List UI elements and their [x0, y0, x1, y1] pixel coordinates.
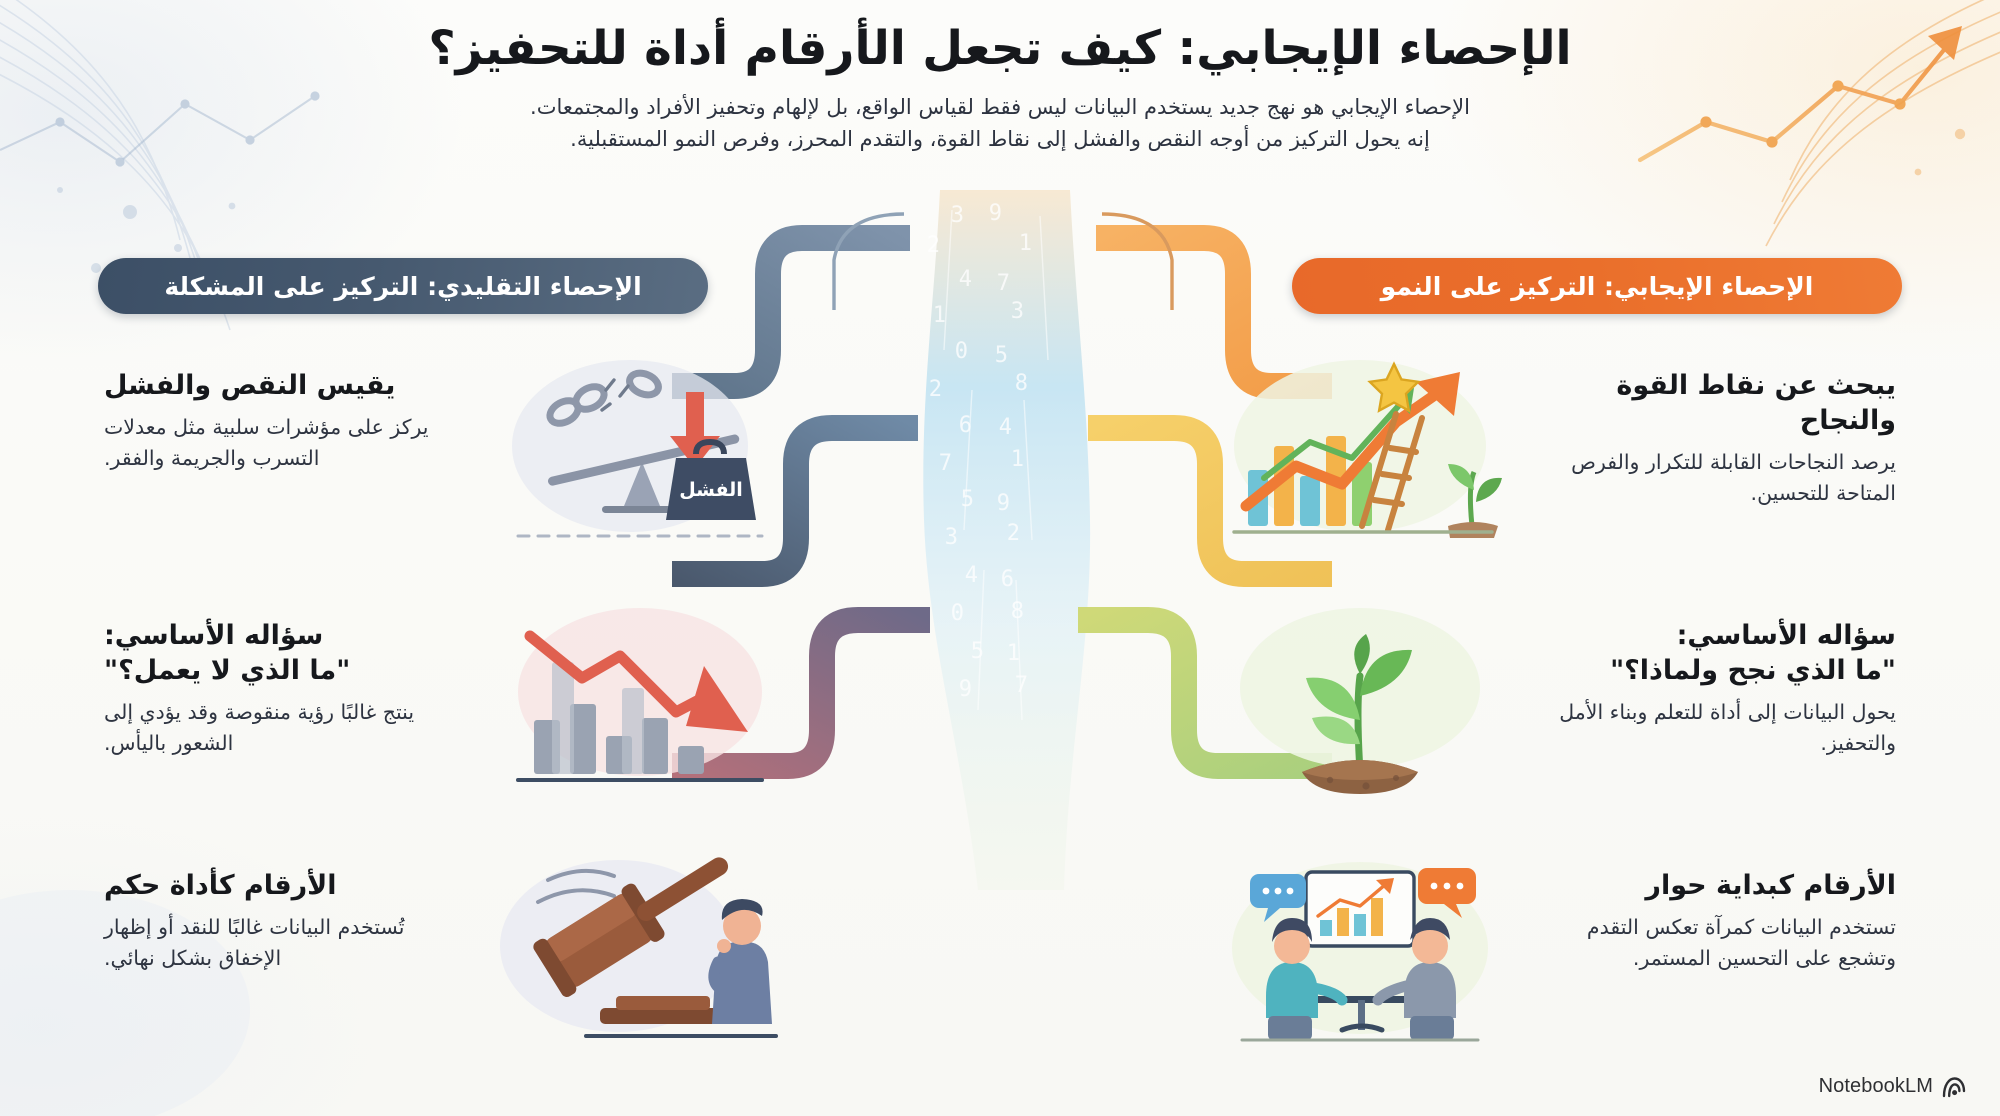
svg-text:1: 1	[1007, 641, 1020, 666]
row-left-1-text: يقيس النقص والفشل يركز على مؤشرات سلبية …	[90, 350, 490, 474]
svg-text:5: 5	[995, 343, 1008, 368]
broken-chain-scale-icon: الفشل	[490, 350, 790, 550]
row-left-2-title-line1: سؤاله الأساسي:	[104, 620, 323, 651]
notebooklm-watermark: NotebookLM	[1819, 1075, 1966, 1098]
svg-text:2: 2	[929, 377, 942, 402]
row-right-1-desc: يرصد النجاحات القابلة للتكرار والفرص الم…	[1532, 447, 1896, 509]
gavel-judgement-icon	[490, 850, 790, 1050]
row-right-2-text: سؤاله الأساسي: "ما الذي نجح ولماذا؟" يحو…	[1510, 600, 1910, 760]
svg-text:2: 2	[927, 233, 940, 258]
row-left-3: الأرقام كأداة حكم تُستخدم البيانات غالبً…	[90, 850, 790, 1062]
row-left-1-desc: يركز على مؤشرات سلبية مثل معدلات التسرب …	[104, 412, 468, 474]
svg-text:9: 9	[959, 677, 972, 702]
column-traditional: الفشل يقيس النقص والفشل يركز على مؤشرات …	[90, 350, 790, 1100]
row-right-3-title: الأرقام كبداية حوار	[1532, 868, 1896, 903]
row-left-1-title: يقيس النقص والفشل	[104, 368, 468, 403]
row-right-2-title: سؤاله الأساسي: "ما الذي نجح ولماذا؟"	[1532, 618, 1896, 688]
svg-text:7: 7	[939, 451, 952, 476]
svg-text:6: 6	[1001, 567, 1014, 592]
row-left-3-text: الأرقام كأداة حكم تُستخدم البيانات غالبً…	[90, 850, 490, 974]
row-right-2: سؤاله الأساسي: "ما الذي نجح ولماذا؟" يحو…	[1210, 600, 1910, 812]
growing-plant-icon	[1210, 600, 1510, 800]
svg-text:1: 1	[1011, 447, 1024, 472]
row-right-2-title-line2: "ما الذي نجح ولماذا؟"	[1532, 653, 1896, 688]
svg-text:0: 0	[951, 601, 964, 626]
row-right-1-title: يبحث عن نقاط القوة والنجاح	[1532, 368, 1896, 438]
infographic-canvas: الإحصاء الإيجابي: كيف تجعل الأرقام أداة …	[0, 0, 2000, 1116]
column-header-positive-label: الإحصاء الإيجابي: التركيز على النمو	[1381, 272, 1814, 301]
svg-text:3: 3	[951, 203, 964, 228]
row-right-1-text: يبحث عن نقاط القوة والنجاح يرصد النجاحات…	[1510, 350, 1910, 510]
row-left-2-text: سؤاله الأساسي: "ما الذي لا يعمل؟" ينتج غ…	[90, 600, 490, 760]
svg-text:7: 7	[997, 271, 1010, 296]
svg-text:4: 4	[999, 415, 1012, 440]
notebooklm-watermark-label: NotebookLM	[1819, 1075, 1933, 1098]
row-left-2: سؤاله الأساسي: "ما الذي لا يعمل؟" ينتج غ…	[90, 600, 790, 812]
row-left-2-desc: ينتج غالبًا رؤية منقوصة وقد يؤدي إلى الش…	[104, 697, 468, 759]
svg-text:5: 5	[961, 487, 974, 512]
page-subtitle: الإحصاء الإيجابي هو نهج جديد يستخدم البي…	[410, 91, 1590, 156]
growth-chart-ladder-star-icon	[1210, 350, 1510, 550]
row-right-3: الأرقام كبداية حوار تستخدم البيانات كمرآ…	[1210, 850, 1910, 1062]
column-header-traditional-label: الإحصاء التقليدي: التركيز على المشكلة	[164, 272, 641, 301]
svg-text:9: 9	[997, 491, 1010, 516]
svg-text:5: 5	[971, 639, 984, 664]
svg-text:4: 4	[959, 267, 972, 292]
svg-text:1: 1	[1019, 231, 1032, 256]
column-header-positive: الإحصاء الإيجابي: التركيز على النمو	[1292, 258, 1902, 314]
svg-text:2: 2	[1007, 521, 1020, 546]
svg-text:0: 0	[955, 339, 968, 364]
subtitle-line-2: إنه يحول التركيز من أوجه النقص والفشل إل…	[410, 123, 1590, 156]
svg-text:4: 4	[965, 563, 978, 588]
data-stream-column: 39 21 47 13 05 28 64 71 59 32 46 08 51 9…	[923, 190, 1090, 890]
row-right-2-title-line1: سؤاله الأساسي:	[1677, 620, 1896, 651]
column-header-traditional: الإحصاء التقليدي: التركيز على المشكلة	[98, 258, 708, 314]
svg-text:3: 3	[945, 525, 958, 550]
scale-weight-label: الفشل	[679, 479, 743, 501]
row-left-2-title-line2: "ما الذي لا يعمل؟"	[104, 653, 468, 688]
subtitle-line-1: الإحصاء الإيجابي هو نهج جديد يستخدم البي…	[410, 91, 1590, 124]
row-right-3-text: الأرقام كبداية حوار تستخدم البيانات كمرآ…	[1510, 850, 1910, 974]
row-right-2-desc: يحول البيانات إلى أداة للتعلم وبناء الأم…	[1532, 697, 1896, 759]
svg-text:8: 8	[1015, 371, 1028, 396]
svg-text:1: 1	[933, 303, 946, 328]
notebooklm-logo-icon	[1942, 1076, 1966, 1098]
svg-text:3: 3	[1011, 299, 1024, 324]
declining-chart-icon	[490, 600, 790, 800]
page-title: الإحصاء الإيجابي: كيف تجعل الأرقام أداة …	[0, 22, 2000, 77]
row-left-3-title: الأرقام كأداة حكم	[104, 868, 468, 903]
row-left-1: الفشل يقيس النقص والفشل يركز على مؤشرات …	[90, 350, 790, 562]
row-left-3-desc: تُستخدم البيانات غالبًا للنقد أو إظهار ا…	[104, 912, 468, 974]
row-left-2-title: سؤاله الأساسي: "ما الذي لا يعمل؟"	[104, 618, 468, 688]
row-right-3-desc: تستخدم البيانات كمرآة تعكس التقدم وتشجع …	[1532, 912, 1896, 974]
header: الإحصاء الإيجابي: كيف تجعل الأرقام أداة …	[0, 22, 2000, 156]
dialogue-people-icon	[1210, 850, 1510, 1050]
row-right-1: يبحث عن نقاط القوة والنجاح يرصد النجاحات…	[1210, 350, 1910, 562]
svg-text:9: 9	[989, 201, 1002, 226]
column-positive: يبحث عن نقاط القوة والنجاح يرصد النجاحات…	[1210, 350, 1910, 1100]
